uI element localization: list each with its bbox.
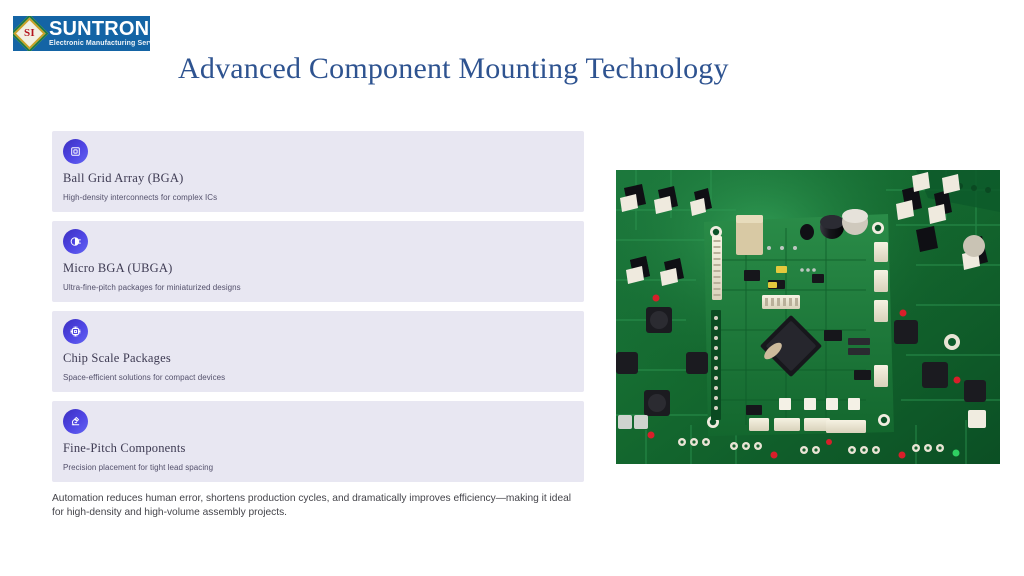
feature-card-title: Ball Grid Array (BGA): [63, 171, 184, 186]
logo-text-block: SUNTRONIC Electronic Manufacturing Servi…: [49, 20, 150, 48]
logo-company-name: SUNTRONIC: [49, 20, 150, 39]
feature-card-title: Fine-Pitch Components: [63, 441, 186, 456]
company-logo: SI SUNTRONIC Electronic Manufacturing Se…: [13, 16, 150, 51]
chip-icon: [63, 139, 88, 164]
half-filled-circle-icon: [63, 229, 88, 254]
feature-card[interactable]: Fine-Pitch Components Precision placemen…: [52, 401, 584, 482]
feature-card-subtitle: Ultra-fine-pitch packages for miniaturiz…: [63, 282, 241, 293]
feature-card-title: Micro BGA (UBGA): [63, 261, 172, 276]
microscope-icon: [63, 409, 88, 434]
page-title: Advanced Component Mounting Technology: [178, 50, 729, 88]
si-monogram: SI: [24, 28, 35, 39]
summary-paragraph: Automation reduces human error, shortens…: [52, 492, 582, 520]
feature-card-title: Chip Scale Packages: [63, 351, 171, 366]
feature-card-list: Ball Grid Array (BGA) High-density inter…: [52, 131, 584, 491]
si-diamond-icon: SI: [13, 16, 49, 51]
feature-card[interactable]: Ball Grid Array (BGA) High-density inter…: [52, 131, 584, 212]
pcb-photo-graphic: [616, 170, 1000, 464]
feature-card-subtitle: Precision placement for tight lead spaci…: [63, 462, 213, 473]
slide: SI SUNTRONIC Electronic Manufacturing Se…: [0, 0, 1024, 576]
cpu-icon: [63, 319, 88, 344]
feature-card-subtitle: High-density interconnects for complex I…: [63, 192, 217, 203]
feature-card-subtitle: Space-efficient solutions for compact de…: [63, 372, 225, 383]
pcb-photo: [616, 170, 1000, 464]
logo-tagline: Electronic Manufacturing Services: [49, 39, 150, 48]
feature-card[interactable]: Chip Scale Packages Space-efficient solu…: [52, 311, 584, 392]
feature-card[interactable]: Micro BGA (UBGA) Ultra-fine-pitch packag…: [52, 221, 584, 302]
